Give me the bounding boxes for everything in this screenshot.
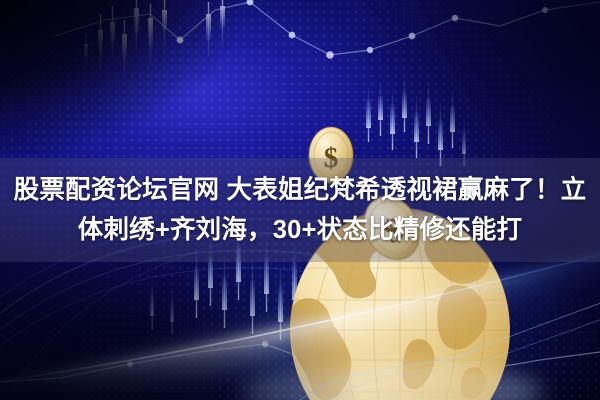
headline-line-1: 股票配资论坛官网 大表姐纪梵希透视裙赢麻了！立 <box>14 170 587 210</box>
headline-line-2: 体刺绣+齐刘海，30+状态比精修还能打 <box>78 210 522 250</box>
banner-image: $ $ 股票配资论坛官网 大表姐纪梵希透视裙赢麻了！立 体刺绣+齐刘海，30+状… <box>0 0 600 400</box>
headline-block: 股票配资论坛官网 大表姐纪梵希透视裙赢麻了！立 体刺绣+齐刘海，30+状态比精修… <box>0 158 600 262</box>
